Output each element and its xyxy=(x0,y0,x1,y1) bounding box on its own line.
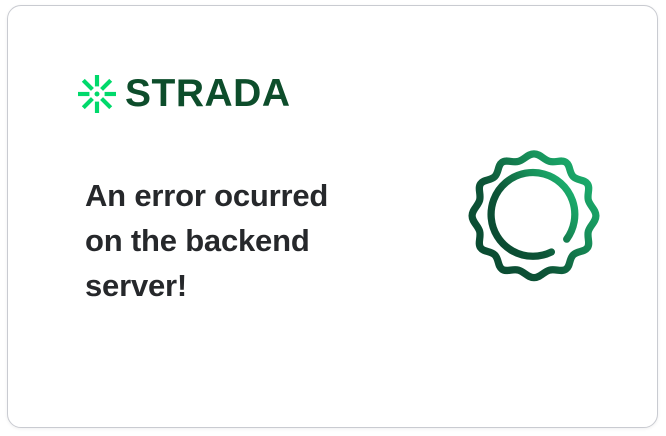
error-message-line: server! xyxy=(85,263,385,308)
error-message-line: An error ocurred xyxy=(85,173,385,218)
error-message-line: on the backend xyxy=(85,218,385,263)
strada-starburst-icon xyxy=(78,75,116,113)
error-card: STRADA An error ocurred on the backend s… xyxy=(7,5,658,428)
gear-illustration xyxy=(451,145,617,306)
gear-cog-icon xyxy=(451,145,617,306)
brand-logo: STRADA xyxy=(78,74,291,113)
brand-wordmark: STRADA xyxy=(125,74,291,113)
error-message: An error ocurred on the backend server! xyxy=(85,173,385,308)
screen: STRADA An error ocurred on the backend s… xyxy=(0,0,666,436)
